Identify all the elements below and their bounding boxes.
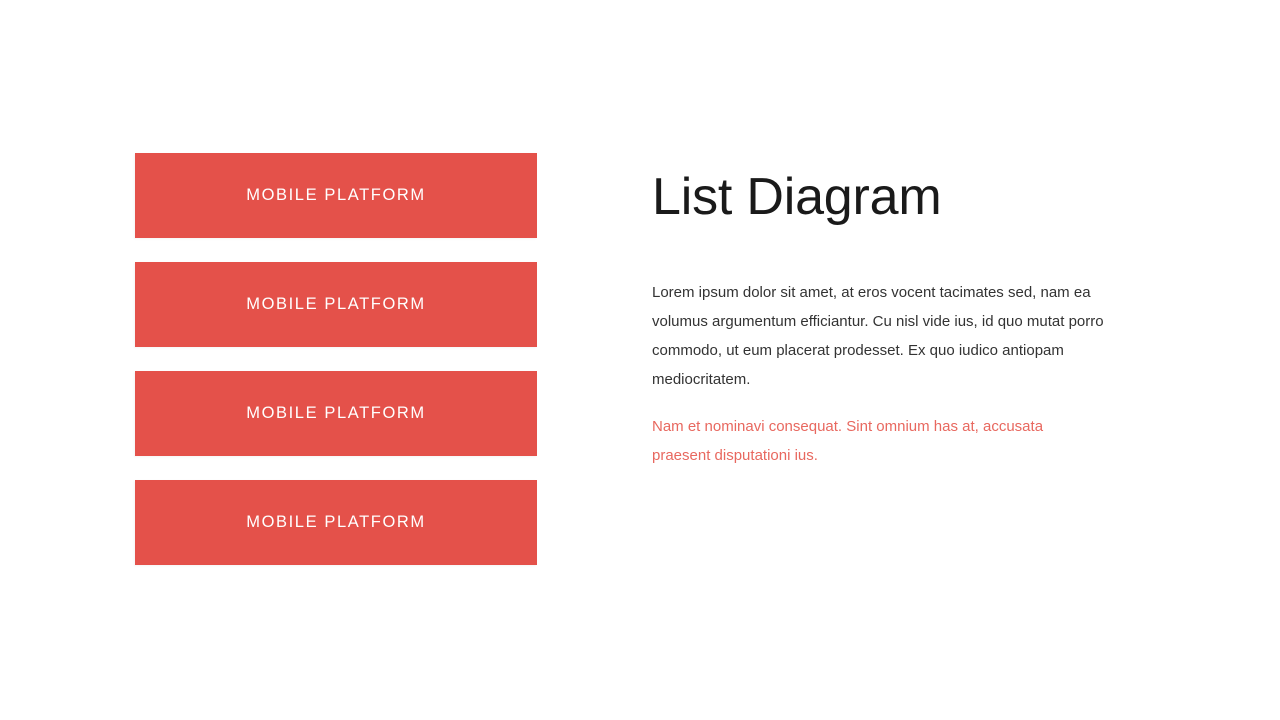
list-item-label: MOBILE PLATFORM [246, 187, 426, 204]
list-diagram: MOBILE PLATFORM MOBILE PLATFORM MOBILE P… [135, 153, 537, 565]
list-item[interactable]: MOBILE PLATFORM [135, 371, 537, 456]
list-item[interactable]: MOBILE PLATFORM [135, 262, 537, 347]
body-paragraph: Lorem ipsum dolor sit amet, at eros voce… [652, 278, 1120, 394]
list-item-label: MOBILE PLATFORM [246, 514, 426, 531]
page-title: List Diagram [652, 168, 1122, 226]
list-item-label: MOBILE PLATFORM [246, 296, 426, 313]
content-column: List Diagram Lorem ipsum dolor sit amet,… [652, 168, 1122, 470]
list-item[interactable]: MOBILE PLATFORM [135, 153, 537, 238]
accent-paragraph: Nam et nominavi consequat. Sint omnium h… [652, 412, 1092, 470]
list-item-label: MOBILE PLATFORM [246, 405, 426, 422]
slide-canvas: MOBILE PLATFORM MOBILE PLATFORM MOBILE P… [0, 0, 1280, 720]
list-item[interactable]: MOBILE PLATFORM [135, 480, 537, 565]
